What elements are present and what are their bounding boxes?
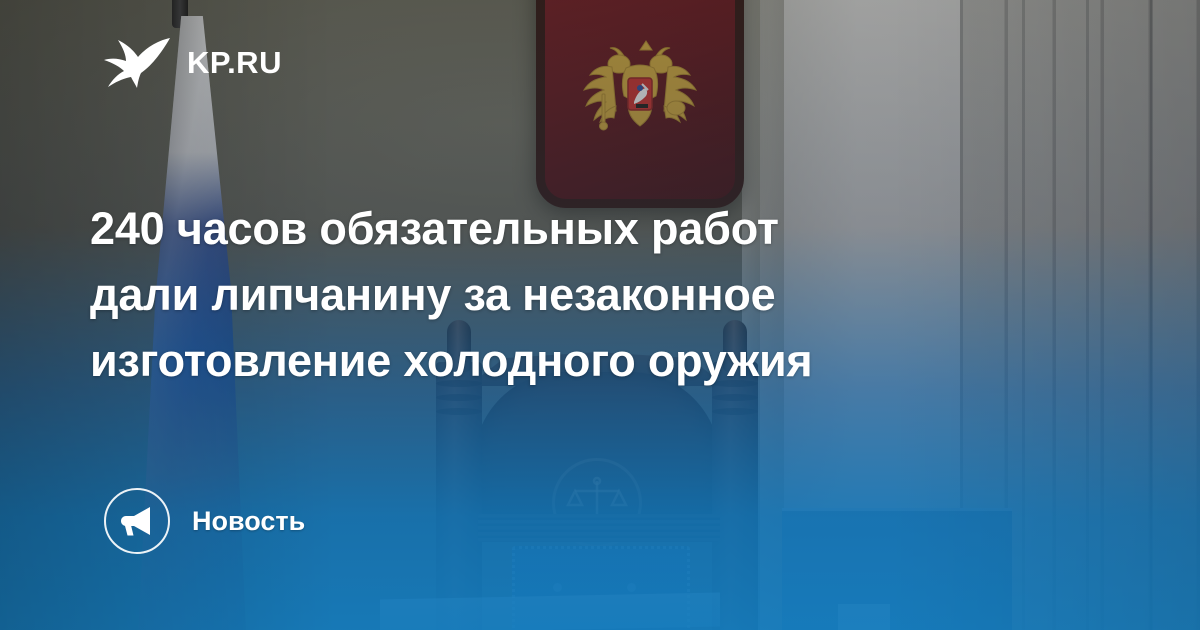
headline-line-2: дали липчанину за незаконное [90,262,1090,328]
badge-label: Новость [192,508,305,535]
megaphone-icon [120,504,154,538]
news-share-card: KP.RU 240 часов обязательных работ дали … [0,0,1200,630]
brand-logo[interactable]: KP.RU [104,36,282,88]
headline: 240 часов обязательных работ дали липчан… [90,196,1090,394]
brand-name: KP.RU [187,47,282,78]
megaphone-icon-circle [104,488,170,554]
headline-line-3: изготовление холодного оружия [90,328,1090,394]
headline-line-1: 240 часов обязательных работ [90,196,1090,262]
swallow-bird-icon [104,36,170,88]
status-badge[interactable]: Новость [104,488,305,554]
card-content: KP.RU 240 часов обязательных работ дали … [0,0,1200,630]
